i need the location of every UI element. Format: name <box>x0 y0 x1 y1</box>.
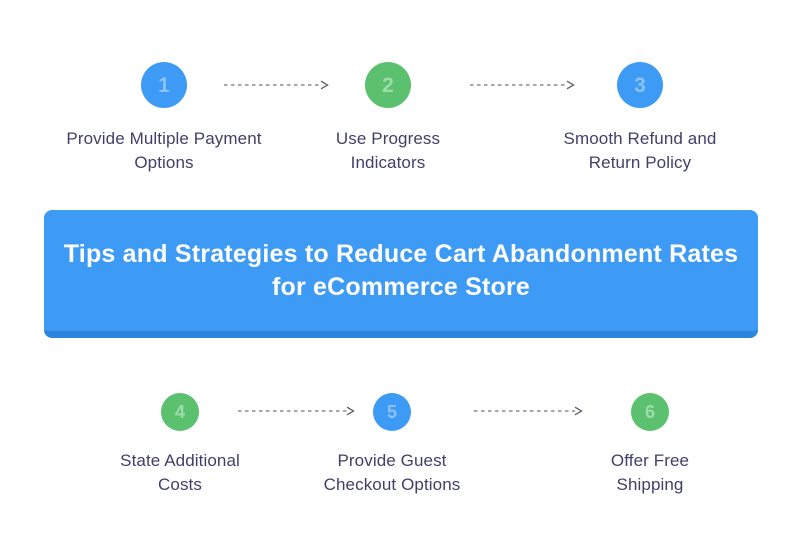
arrow-5-to-6-icon <box>474 406 584 418</box>
step-2-number: 2 <box>382 75 394 96</box>
step-1-label: Provide Multiple Payment Options <box>54 127 274 175</box>
step-2-number-badge: 2 <box>365 62 411 108</box>
step-2: 2 Use Progress Indicators <box>298 62 478 175</box>
step-3-number: 3 <box>634 75 646 96</box>
banner: Tips and Strategies to Reduce Cart Aband… <box>44 210 758 338</box>
step-6-label: Offer Free Shipping <box>566 449 734 497</box>
step-4-number-badge: 4 <box>161 393 199 431</box>
step-5-number: 5 <box>387 403 397 421</box>
banner-title: Tips and Strategies to Reduce Cart Aband… <box>46 238 756 304</box>
step-1-number-badge: 1 <box>141 62 187 108</box>
step-6-number-badge: 6 <box>631 393 669 431</box>
arrow-2-to-3-icon <box>470 80 576 92</box>
step-5-number-badge: 5 <box>373 393 411 431</box>
step-5-label: Provide Guest Checkout Options <box>302 449 482 497</box>
arrow-4-to-5-icon <box>238 406 356 418</box>
step-6-number: 6 <box>645 403 655 421</box>
step-1: 1 Provide Multiple Payment Options <box>54 62 274 175</box>
step-2-label: Use Progress Indicators <box>298 127 478 175</box>
step-3-number-badge: 3 <box>617 62 663 108</box>
step-4-label: State Additional Costs <box>90 449 270 497</box>
step-3-label: Smooth Refund and Return Policy <box>540 127 740 175</box>
step-4-number: 4 <box>175 403 185 421</box>
arrow-1-to-2-icon <box>224 80 330 92</box>
infographic-canvas: 1 Provide Multiple Payment Options 2 Use… <box>0 0 800 537</box>
step-3: 3 Smooth Refund and Return Policy <box>540 62 740 175</box>
step-6: 6 Offer Free Shipping <box>566 393 734 497</box>
step-1-number: 1 <box>158 75 170 96</box>
